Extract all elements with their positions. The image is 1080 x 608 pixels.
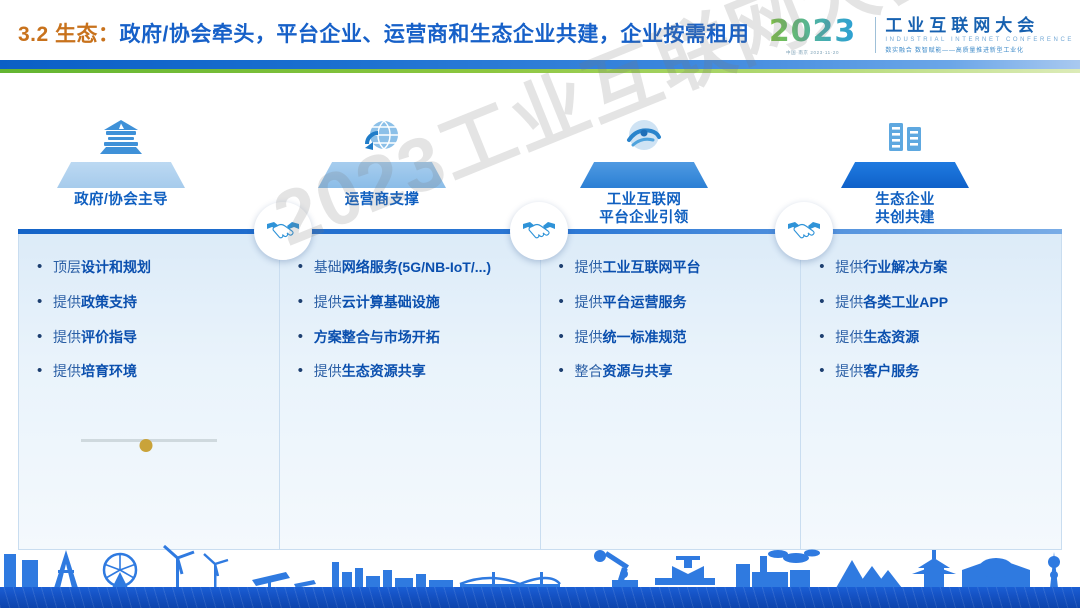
bullet-item: •整合资源与共享: [559, 363, 789, 380]
tv-tower-icon: [1048, 552, 1060, 588]
bullet-list: •提供行业解决方案•提供各类工业APP•提供生态资源•提供客户服务: [801, 233, 1061, 380]
bullet-dot-icon: •: [559, 329, 575, 346]
bullet-text: 提供生态资源: [835, 329, 919, 346]
bullet-text: 提供统一标准规范: [575, 329, 687, 346]
bullet-dot-icon: •: [37, 363, 53, 380]
slide-root: 3.2 生态：政府/协会牵头，平台企业、运营商和生态企业共建，企业按需租用 20…: [0, 0, 1080, 608]
logo-chinese-name: 工业互联网大会: [885, 16, 1074, 36]
factory-icon: [736, 550, 820, 589]
content-column-platform: •提供工业互联网平台•提供平台运营服务•提供统一标准规范•整合资源与共享: [540, 233, 801, 549]
bullet-dot-icon: •: [37, 294, 53, 311]
logo-year-subtext: 中国·南京 2023·11·20: [769, 50, 857, 56]
bullet-item: •提供行业解决方案: [819, 259, 1049, 276]
bullet-dot-icon: •: [559, 294, 575, 311]
bullet-item: •提供客户服务: [819, 363, 1049, 380]
logo-tagline: 数实融合 数智赋能——高质量推进新型工业化: [885, 45, 1074, 54]
bullet-item: •提供评价指导: [37, 329, 267, 346]
bullet-text: 提供各类工业APP: [835, 294, 948, 311]
column-header-government: 政府/协会主导: [16, 108, 226, 210]
logo-year-text: 2023: [769, 14, 857, 49]
bullet-list: •提供工业互联网平台•提供平台运营服务•提供统一标准规范•整合资源与共享: [541, 233, 801, 380]
logo-divider: [875, 17, 876, 53]
bullet-text: 提供评价指导: [53, 329, 137, 346]
bullet-text: 顶层设计和规划: [53, 259, 151, 276]
content-column-ecosystem: •提供行业解决方案•提供各类工业APP•提供生态资源•提供客户服务: [800, 233, 1061, 549]
column-header-label: 政府/协会主导: [16, 192, 226, 210]
bullet-item: •基础网络服务(5G/NB-IoT/...): [298, 259, 528, 276]
bullet-list: •顶层设计和规划•提供政策支持•提供评价指导•提供培育环境: [19, 233, 279, 380]
bullet-dot-icon: •: [819, 294, 835, 311]
logo-text-block: 工业互联网大会 INDUSTRIAL INTERNET CONFERENCE 数…: [885, 16, 1074, 55]
bullet-text: 基础网络服务(5G/NB-IoT/...): [314, 259, 491, 276]
column-header-ecosystem: 生态企业共创共建: [800, 108, 1010, 227]
pipeline-icon: [655, 556, 715, 585]
column-header-platform: 工业互联网平台企业引领: [539, 108, 749, 227]
logo-year-block: 2023 中国·南京 2023·11·20: [769, 14, 867, 56]
bullet-dot-icon: •: [37, 259, 53, 276]
bullet-text: 提供平台运营服务: [575, 294, 687, 311]
handshake-connector: [775, 202, 833, 260]
bullet-text: 提供云计算基础设施: [314, 294, 440, 311]
footer-silhouettes: [0, 544, 1080, 588]
column-photo: [549, 439, 793, 543]
bullet-text: 提供行业解决方案: [835, 259, 947, 276]
ferris-wheel-icon: [104, 554, 136, 588]
wind-turbine-icon: [164, 546, 228, 588]
column-photo: [27, 439, 271, 543]
page-title: 3.2 生态：政府/协会牵头，平台企业、运营商和生态企业共建，企业按需租用: [18, 18, 749, 48]
bullet-dot-icon: •: [559, 259, 575, 276]
bullet-dot-icon: •: [819, 363, 835, 380]
solar-panel-icon: [252, 572, 316, 588]
column-photo: [288, 439, 532, 543]
bullet-dot-icon: •: [819, 329, 835, 346]
bullet-text: 提供生态资源共享: [314, 363, 426, 380]
bullet-dot-icon: •: [298, 294, 314, 311]
mountains-icon: [836, 560, 902, 588]
robot-arm-icon: [594, 550, 638, 588]
footer-band: [0, 587, 1080, 608]
bullet-item: •提供培育环境: [37, 363, 267, 380]
bullet-dot-icon: •: [298, 363, 314, 380]
bullet-dot-icon: •: [298, 259, 314, 276]
bullet-dot-icon: •: [298, 329, 314, 346]
header-green-rule: [0, 69, 1080, 73]
slide-header: 3.2 生态：政府/协会牵头，平台企业、运营商和生态企业共建，企业按需租用 20…: [0, 0, 1080, 72]
city-buildings-icon: [332, 562, 453, 588]
bullet-text: 提供工业互联网平台: [575, 259, 701, 276]
bullet-text: 提供培育环境: [53, 363, 137, 380]
handshake-icon: [522, 217, 556, 246]
bullet-item: •提供平台运营服务: [559, 294, 789, 311]
bullet-item: •提供工业互联网平台: [559, 259, 789, 276]
header-blue-rule: [0, 60, 1080, 69]
column-header-label: 运营商支撑: [277, 192, 487, 210]
globe-network-icon: [277, 108, 487, 160]
content-column-operator: •基础网络服务(5G/NB-IoT/...)•提供云计算基础设施•方案整合与市场…: [279, 233, 540, 549]
conference-logo: 2023 中国·南京 2023·11·20 工业互联网大会 INDUSTRIAL…: [769, 8, 1074, 62]
content-column-government: •顶层设计和规划•提供政策支持•提供评价指导•提供培育环境: [19, 233, 279, 549]
title-text: 政府/协会牵头，平台企业、运营商和生态企业共建，企业按需租用: [120, 23, 750, 46]
buildings-icon: [800, 108, 1010, 160]
bullet-item: •顶层设计和规划: [37, 259, 267, 276]
bridge-icon: [460, 572, 560, 588]
eiffel-tower-icon: [54, 550, 78, 588]
column-photo: [809, 439, 1053, 543]
handshake-connector: [254, 202, 312, 260]
bullet-item: •提供生态资源: [819, 329, 1049, 346]
pagoda-icon: [912, 550, 956, 588]
bullet-item: •提供政策支持: [37, 294, 267, 311]
title-section-number: 3.2 生态：: [18, 23, 120, 46]
bullet-item: •方案整合与市场开拓: [298, 329, 528, 346]
government-building-icon: [16, 108, 226, 160]
bullet-dot-icon: •: [559, 363, 575, 380]
tower-slab-icon: [4, 554, 38, 588]
bullet-list: •基础网络服务(5G/NB-IoT/...)•提供云计算基础设施•方案整合与市场…: [280, 233, 540, 380]
content-panel: •顶层设计和规划•提供政策支持•提供评价指导•提供培育环境 •基础网络服务(5G…: [18, 232, 1062, 550]
civic-dome-icon: [962, 558, 1030, 588]
industrial-internet-icon: [539, 108, 749, 160]
column-header-base: [57, 162, 185, 188]
bullet-item: •提供各类工业APP: [819, 294, 1049, 311]
handshake-connector: [510, 202, 568, 260]
bullet-text: 方案整合与市场开拓: [314, 329, 440, 346]
handshake-icon: [266, 217, 300, 246]
column-header-label: 工业互联网平台企业引领: [539, 192, 749, 227]
bullet-dot-icon: •: [819, 259, 835, 276]
bullet-text: 提供客户服务: [835, 363, 919, 380]
handshake-icon: [787, 217, 821, 246]
logo-english-name: INDUSTRIAL INTERNET CONFERENCE: [885, 37, 1074, 43]
bullet-item: •提供生态资源共享: [298, 363, 528, 380]
bullet-text: 整合资源与共享: [575, 363, 673, 380]
column-header-base: [318, 162, 446, 188]
bullet-item: •提供云计算基础设施: [298, 294, 528, 311]
bullet-dot-icon: •: [37, 329, 53, 346]
bullet-item: •提供统一标准规范: [559, 329, 789, 346]
bullet-text: 提供政策支持: [53, 294, 137, 311]
column-header-base: [580, 162, 708, 188]
column-header-operator: 运营商支撑: [277, 108, 487, 210]
column-header-base: [841, 162, 969, 188]
